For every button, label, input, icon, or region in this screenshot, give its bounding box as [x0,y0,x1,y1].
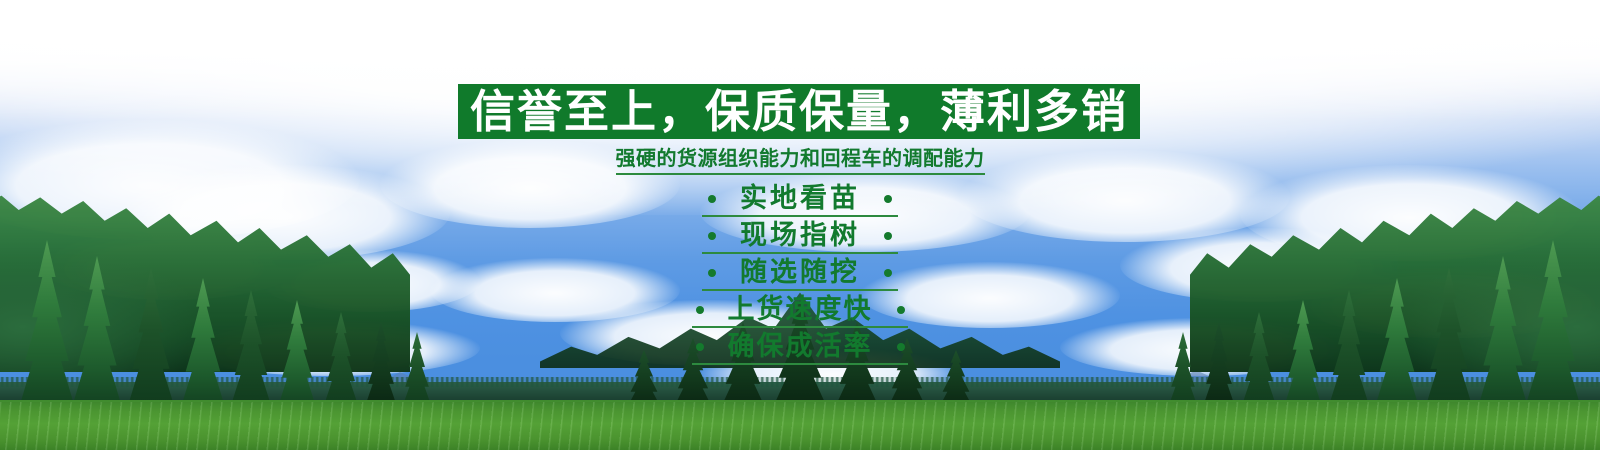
page-title: 信誉至上，保质保量，薄利多销 [470,89,1128,134]
list-item: 确保成活率 [0,328,1600,365]
bullet-dot-icon [897,306,905,314]
list-item: 随选随挖 [0,254,1600,291]
feature-label: 现场指树 [740,222,860,249]
list-item: 现场指树 [0,217,1600,254]
feature-label: 确保成活率 [728,333,873,360]
feature-list: 实地看苗 现场指树 随选随挖 上货速度快 确保成活率 [0,180,1600,365]
promo-banner: 信誉至上，保质保量，薄利多销 强硬的货源组织能力和回程车的调配能力 实地看苗 现… [0,0,1600,450]
list-item: 实地看苗 [0,180,1600,217]
bullet-dot-icon [696,306,704,314]
title-banner-bar: 信誉至上，保质保量，薄利多销 [458,84,1140,139]
bullet-dot-icon [708,269,716,277]
feature-label: 实地看苗 [740,185,860,212]
bullet-dot-icon [884,269,892,277]
bullet-dot-icon [708,195,716,203]
feature-label: 随选随挖 [740,259,860,286]
feature-label: 上货速度快 [728,296,873,323]
banner-content: 信誉至上，保质保量，薄利多销 强硬的货源组织能力和回程车的调配能力 实地看苗 现… [0,0,1600,450]
bullet-dot-icon [696,343,704,351]
bullet-dot-icon [708,232,716,240]
subtitle-wrap: 强硬的货源组织能力和回程车的调配能力 [0,146,1600,175]
banner-subtitle: 强硬的货源组织能力和回程车的调配能力 [616,146,985,175]
bullet-dot-icon [897,343,905,351]
bullet-dot-icon [884,195,892,203]
bullet-dot-icon [884,232,892,240]
list-item: 上货速度快 [0,291,1600,328]
